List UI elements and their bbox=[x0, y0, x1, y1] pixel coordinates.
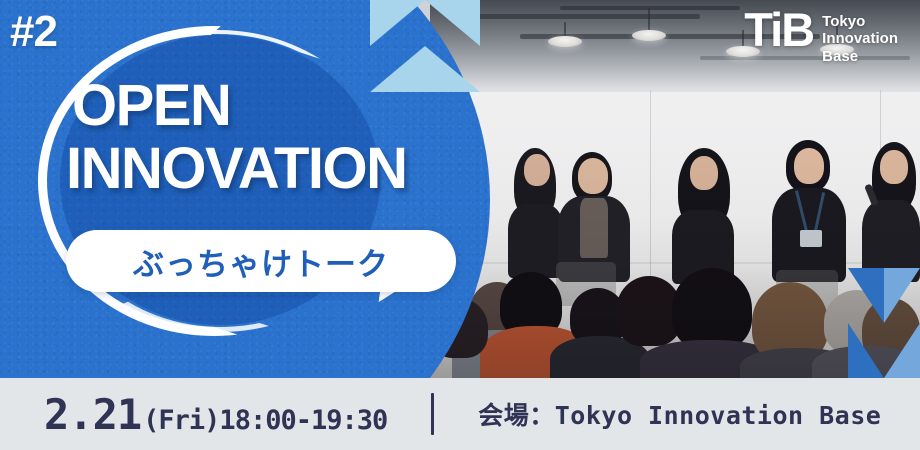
tib-logo-line-2: Innovation bbox=[822, 30, 898, 47]
episode-badge: #2 bbox=[10, 10, 57, 54]
tib-logo-text: Tokyo Innovation Base bbox=[822, 8, 898, 65]
footer-divider bbox=[431, 393, 434, 435]
tib-logo-line-1: Tokyo bbox=[822, 13, 898, 30]
footer-bar: 2.21 (Fri)18:00-19:30 会場：Tokyo Innovatio… bbox=[0, 378, 920, 450]
headline-line-2: INNOVATION bbox=[66, 141, 466, 197]
event-datetime: 2.21 (Fri)18:00-19:30 bbox=[0, 390, 387, 439]
tib-logo: TiB Tokyo Innovation Base bbox=[744, 8, 898, 65]
tib-logo-line-3: Base bbox=[822, 48, 898, 65]
triangle bbox=[884, 268, 920, 323]
event-date: 2.21 bbox=[44, 390, 141, 439]
triangle bbox=[425, 0, 480, 46]
headline: OPEN INNOVATION bbox=[66, 78, 466, 196]
pinwheel-pattern-bottom bbox=[848, 268, 920, 378]
tib-logo-mark: TiB bbox=[744, 8, 813, 51]
speech-bubble-text: ぶっちゃけトーク bbox=[66, 230, 456, 292]
event-venue: 会場：Tokyo Innovation Base bbox=[478, 396, 881, 432]
triangle bbox=[848, 323, 884, 378]
triangle bbox=[884, 323, 920, 378]
triangle bbox=[848, 268, 884, 323]
event-day-time: (Fri)18:00-19:30 bbox=[143, 405, 387, 436]
event-banner: #2 OPEN INNOVATION ぶっちゃけトーク TiB Tokyo In… bbox=[0, 0, 920, 450]
headline-line-1: OPEN bbox=[66, 78, 466, 134]
triangle bbox=[370, 0, 425, 46]
